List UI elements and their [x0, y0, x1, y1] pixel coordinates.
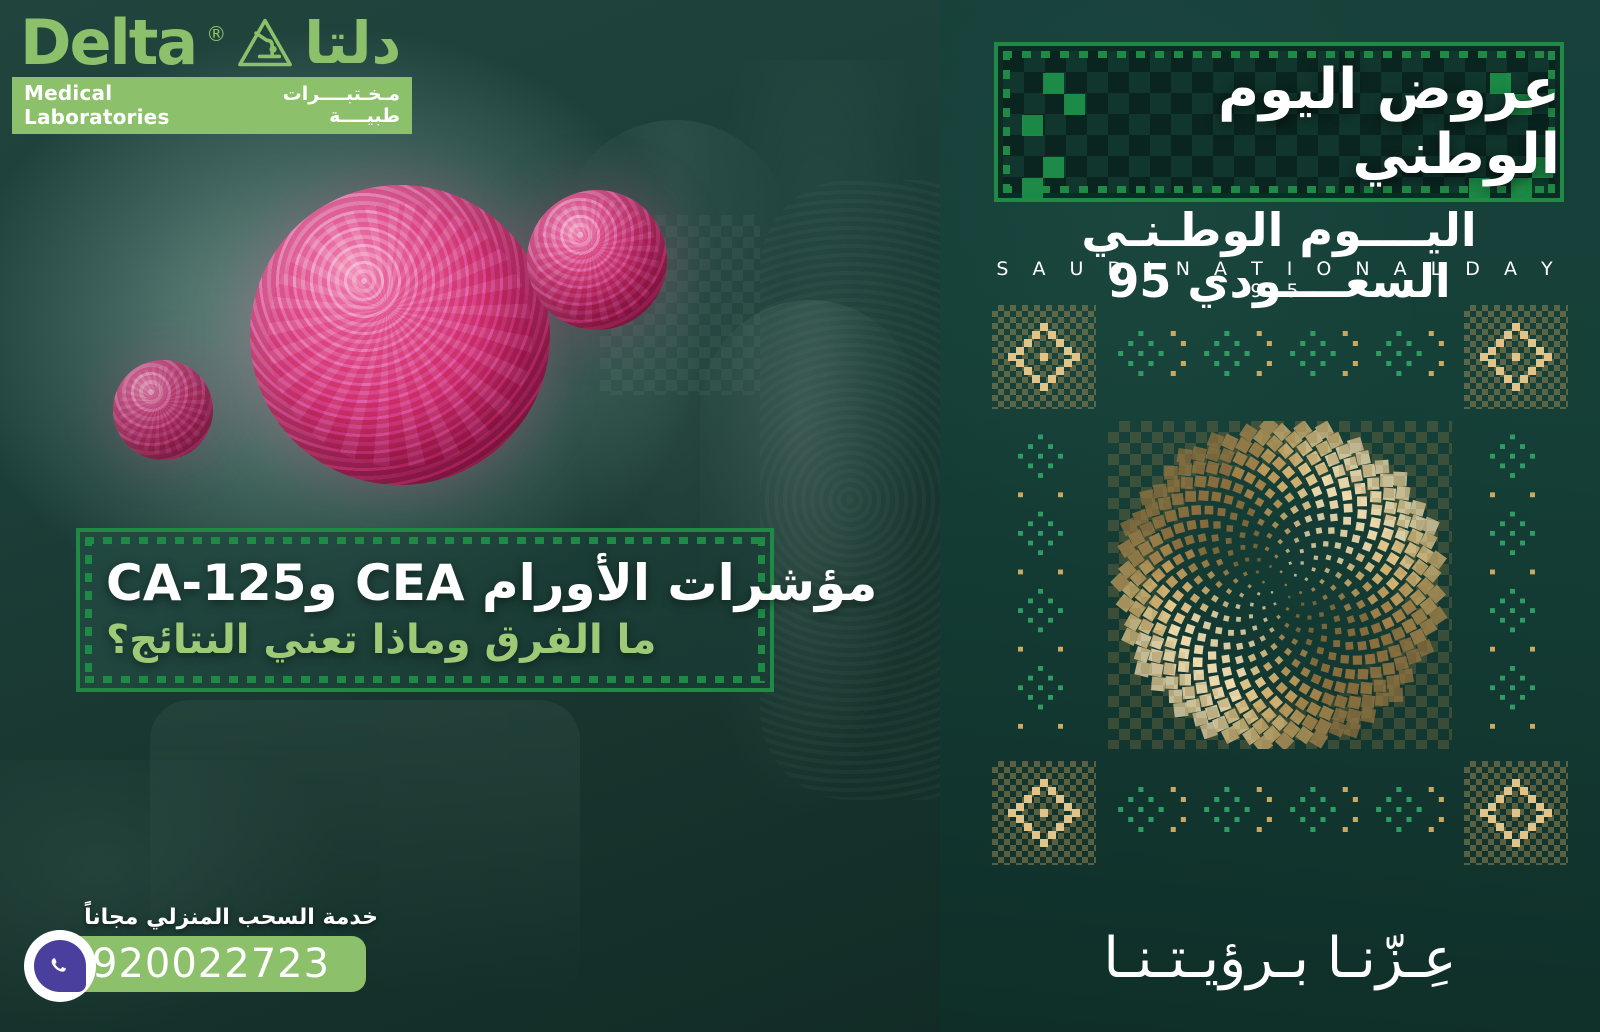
- headline-sub-text: ما الفرق وماذا تعني النتائج؟: [106, 617, 656, 663]
- contact-row[interactable]: 920022723: [18, 934, 378, 996]
- logo-tagline-bar: Medical Laboratories مـخـتبــــرات طبيــ…: [12, 77, 412, 134]
- pixel-diamond-motif-bottom-left: [1464, 761, 1568, 865]
- poster-root: Delta ® دلتا Medical Laboratories مـخـتب…: [0, 0, 1600, 1032]
- national-day-title-en: S A U D I N A T I O N A L D A Y 9 5: [990, 258, 1568, 302]
- gold-phyllotaxis-spiral: [1108, 421, 1452, 749]
- sadu-band-top: [1108, 305, 1452, 409]
- phone-number[interactable]: 920022723: [92, 941, 330, 987]
- spiral-corner-checker: [1108, 421, 1452, 749]
- pixel-diamond-motif-top-left: [1464, 305, 1568, 409]
- logo-tagline-en: Medical Laboratories: [24, 81, 232, 129]
- cancer-cell-medium: [527, 190, 667, 330]
- microscope-triangle-icon: [236, 17, 294, 69]
- ornament-grid: [992, 305, 1568, 865]
- photo-area: [0, 0, 940, 1032]
- headline-main-text: مؤشرات الأورام CEA وCA-125: [106, 555, 877, 611]
- home-collection-note: خدمة السحب المنزلي مجاناً: [18, 905, 378, 930]
- sadu-band-right: [992, 421, 1096, 749]
- logo-top-row: Delta ® دلتا: [12, 14, 412, 75]
- logo-name-ar: دلتا: [304, 14, 401, 72]
- registered-mark-icon: ®: [206, 22, 226, 46]
- offers-banner-text: عروض اليوم الوطني: [998, 46, 1560, 198]
- whatsapp-icon[interactable]: [24, 930, 96, 1002]
- pixel-diamond-motif-top-right: [992, 305, 1096, 409]
- logo-name-en: Delta: [20, 14, 196, 73]
- national-day-panel: عروض اليوم الوطني اليــــوم الوطـنـي الس…: [940, 0, 1600, 1032]
- headline-box: مؤشرات الأورام CEA وCA-125 ما الفرق وماذ…: [76, 528, 774, 692]
- background-scene: [0, 0, 940, 1032]
- sadu-band-bottom: [1108, 761, 1452, 865]
- offers-banner: عروض اليوم الوطني: [994, 42, 1564, 202]
- whatsapp-bubble: [34, 940, 86, 992]
- contact-block[interactable]: خدمة السحب المنزلي مجاناً 920022723: [18, 905, 378, 996]
- brand-logo[interactable]: Delta ® دلتا Medical Laboratories مـخـتب…: [12, 14, 412, 134]
- logo-tagline-ar: مـخـتبــــرات طبيــــة: [232, 83, 400, 127]
- national-day-tagline: عِـزّنـا بـرؤيـتـنـا: [980, 928, 1580, 990]
- sadu-band-left: [1464, 421, 1568, 749]
- cancer-cell-small: [113, 360, 213, 460]
- pixel-diamond-motif-bottom-right: [992, 761, 1096, 865]
- phone-pill[interactable]: 920022723: [66, 936, 366, 992]
- cancer-cell-large: [250, 185, 550, 485]
